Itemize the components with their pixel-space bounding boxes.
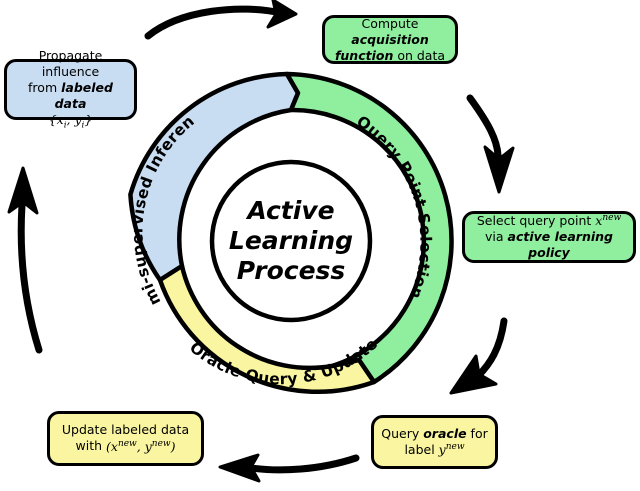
callout-line: Update labeled data	[57, 422, 194, 438]
callout-line: label ynew	[381, 442, 488, 458]
callout-compute-acquisition-function[interactable]: Compute acquisition function on data	[322, 15, 458, 64]
callout-update-labeled-data[interactable]: Update labeled data with (xnew, ynew)	[47, 411, 204, 466]
math-xy-new-pair: (xnew, ynew)	[106, 439, 176, 454]
callout-query-oracle[interactable]: Query oracle for label ynew	[371, 415, 498, 469]
arrow-bottom-right	[451, 321, 504, 393]
arrow-top	[148, 0, 296, 36]
callout-line: from labeled data	[14, 80, 127, 112]
callout-line: with (xnew, ynew)	[57, 438, 194, 454]
callout-math-labeled-set: {xi, yi}	[14, 112, 127, 132]
callout-line: via active learning policy	[472, 229, 626, 261]
callout-line: Select query point xnew	[472, 213, 626, 229]
math-x-new: xnew	[595, 213, 621, 228]
arrow-right	[470, 98, 513, 192]
callout-line: Propagate influence	[14, 48, 127, 80]
callout-select-query-point[interactable]: Select query point xnew via active learn…	[462, 211, 636, 263]
arrow-left	[9, 168, 39, 350]
callout-line: Query oracle for	[381, 426, 488, 442]
arrow-bottom	[220, 455, 356, 481]
callout-line: function on data	[332, 48, 448, 64]
diagram-canvas: Semi-supervised Inference Query Point Se…	[0, 0, 640, 491]
math-y-new: ynew	[439, 442, 465, 457]
callout-propagate-influence[interactable]: Propagate influence from labeled data {x…	[4, 59, 137, 120]
callout-line: Compute acquisition	[332, 16, 448, 48]
